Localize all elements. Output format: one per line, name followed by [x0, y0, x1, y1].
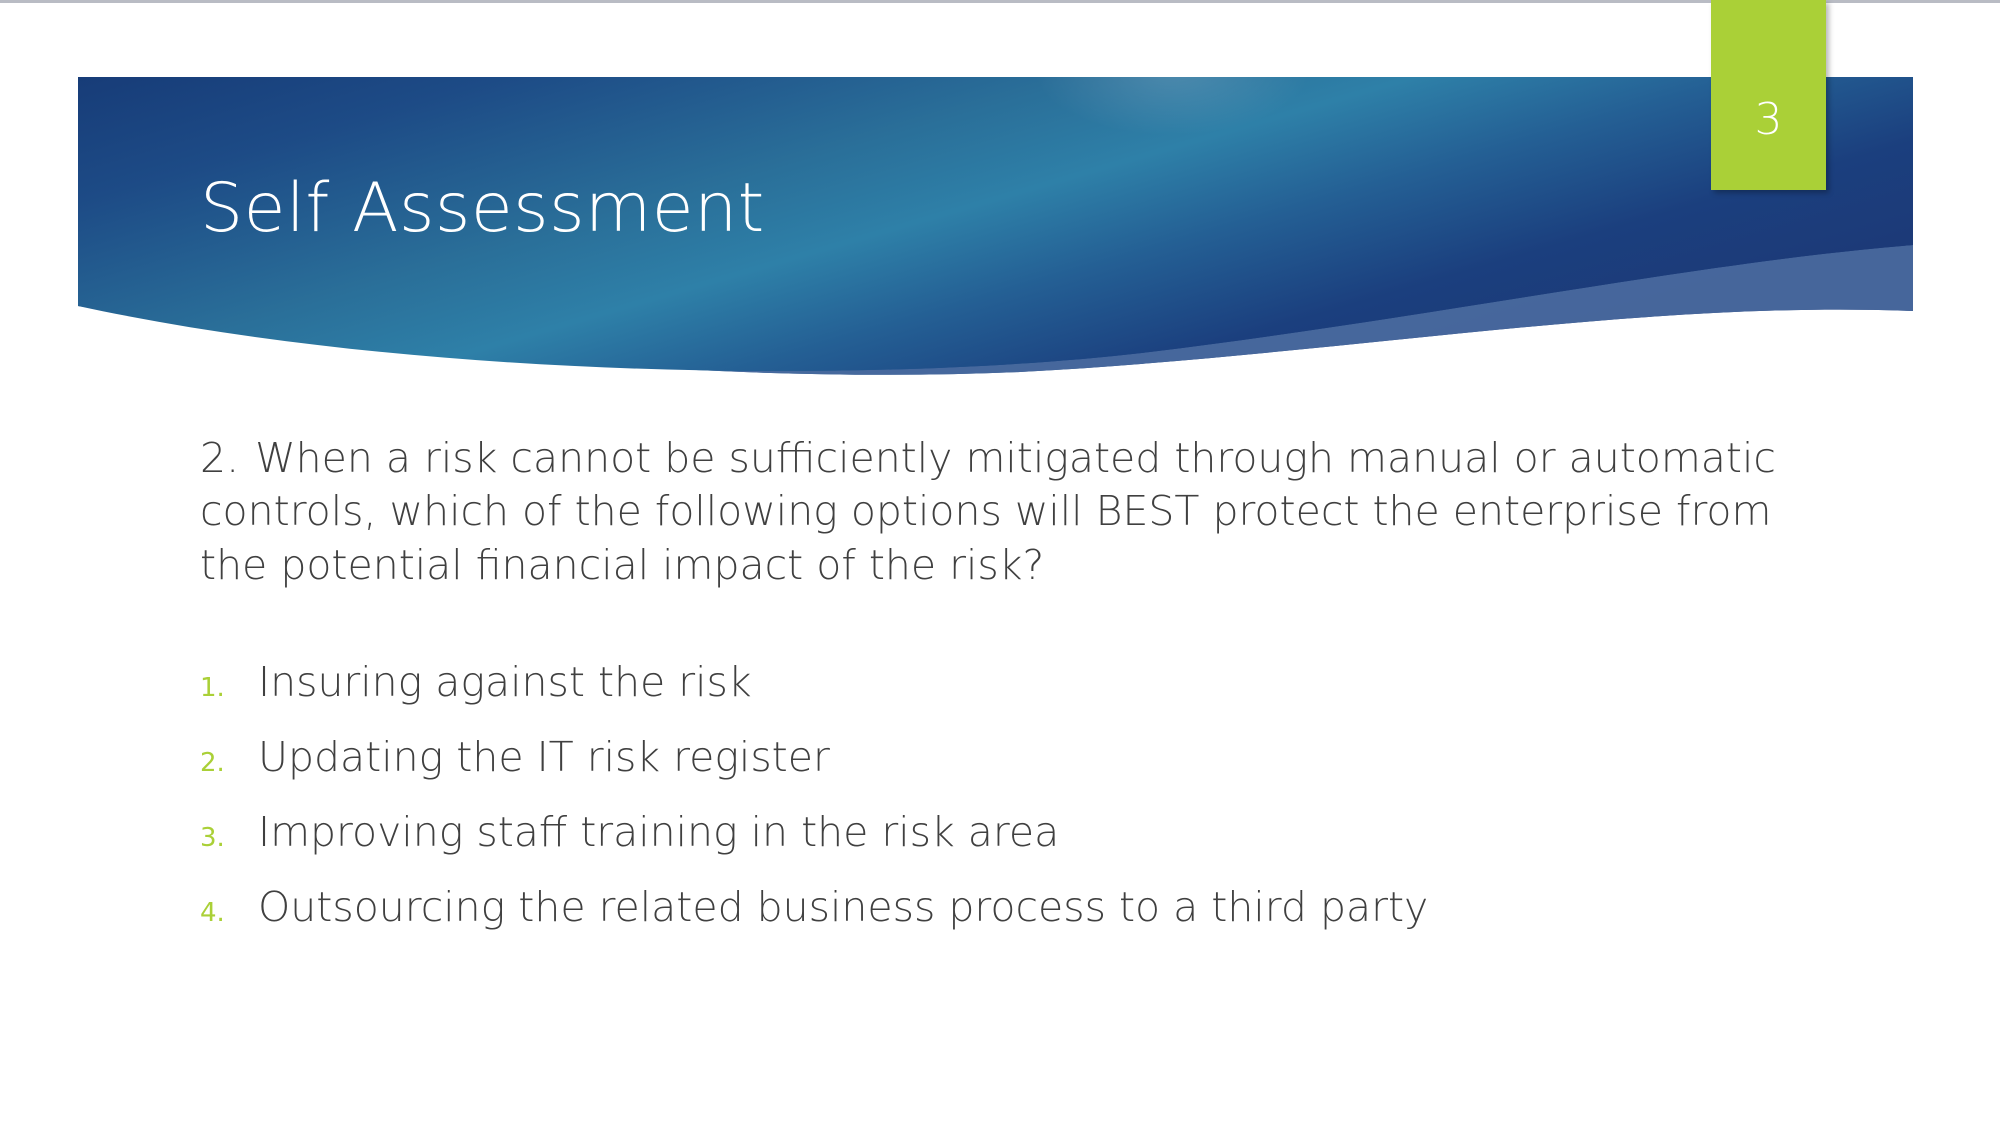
answer-marker: 2.: [200, 750, 258, 776]
answer-marker: 3.: [200, 825, 258, 851]
list-item[interactable]: 2. Updating the IT risk register: [200, 735, 1860, 780]
question-text: When a risk cannot be sufficiently mitig…: [200, 434, 1776, 589]
slide-top-divider: [0, 0, 2000, 3]
answer-label: Outsourcing the related business process…: [258, 885, 1428, 930]
question-paragraph: 2.When a risk cannot be sufficiently mit…: [200, 432, 1840, 592]
answer-marker: 4.: [200, 900, 258, 926]
presentation-slide: Self Assessment 3 2.When a risk cannot b…: [0, 0, 2000, 1125]
list-item[interactable]: 1. Insuring against the risk: [200, 660, 1860, 705]
page-title: Self Assessment: [200, 175, 765, 243]
answer-label: Updating the IT risk register: [258, 735, 830, 780]
slide-number: 3: [1711, 0, 1826, 142]
answer-marker: 1.: [200, 675, 258, 701]
list-item[interactable]: 4. Outsourcing the related business proc…: [200, 885, 1860, 930]
question-number: 2.: [200, 434, 239, 482]
answer-label: Improving staff training in the risk are…: [258, 810, 1059, 855]
answer-label: Insuring against the risk: [258, 660, 752, 705]
answer-options-list: 1. Insuring against the risk 2. Updating…: [200, 660, 1860, 930]
slide-number-tab: 3: [1711, 0, 1826, 190]
list-item[interactable]: 3. Improving staff training in the risk …: [200, 810, 1860, 855]
slide-body: 2.When a risk cannot be sufficiently mit…: [200, 432, 1860, 960]
